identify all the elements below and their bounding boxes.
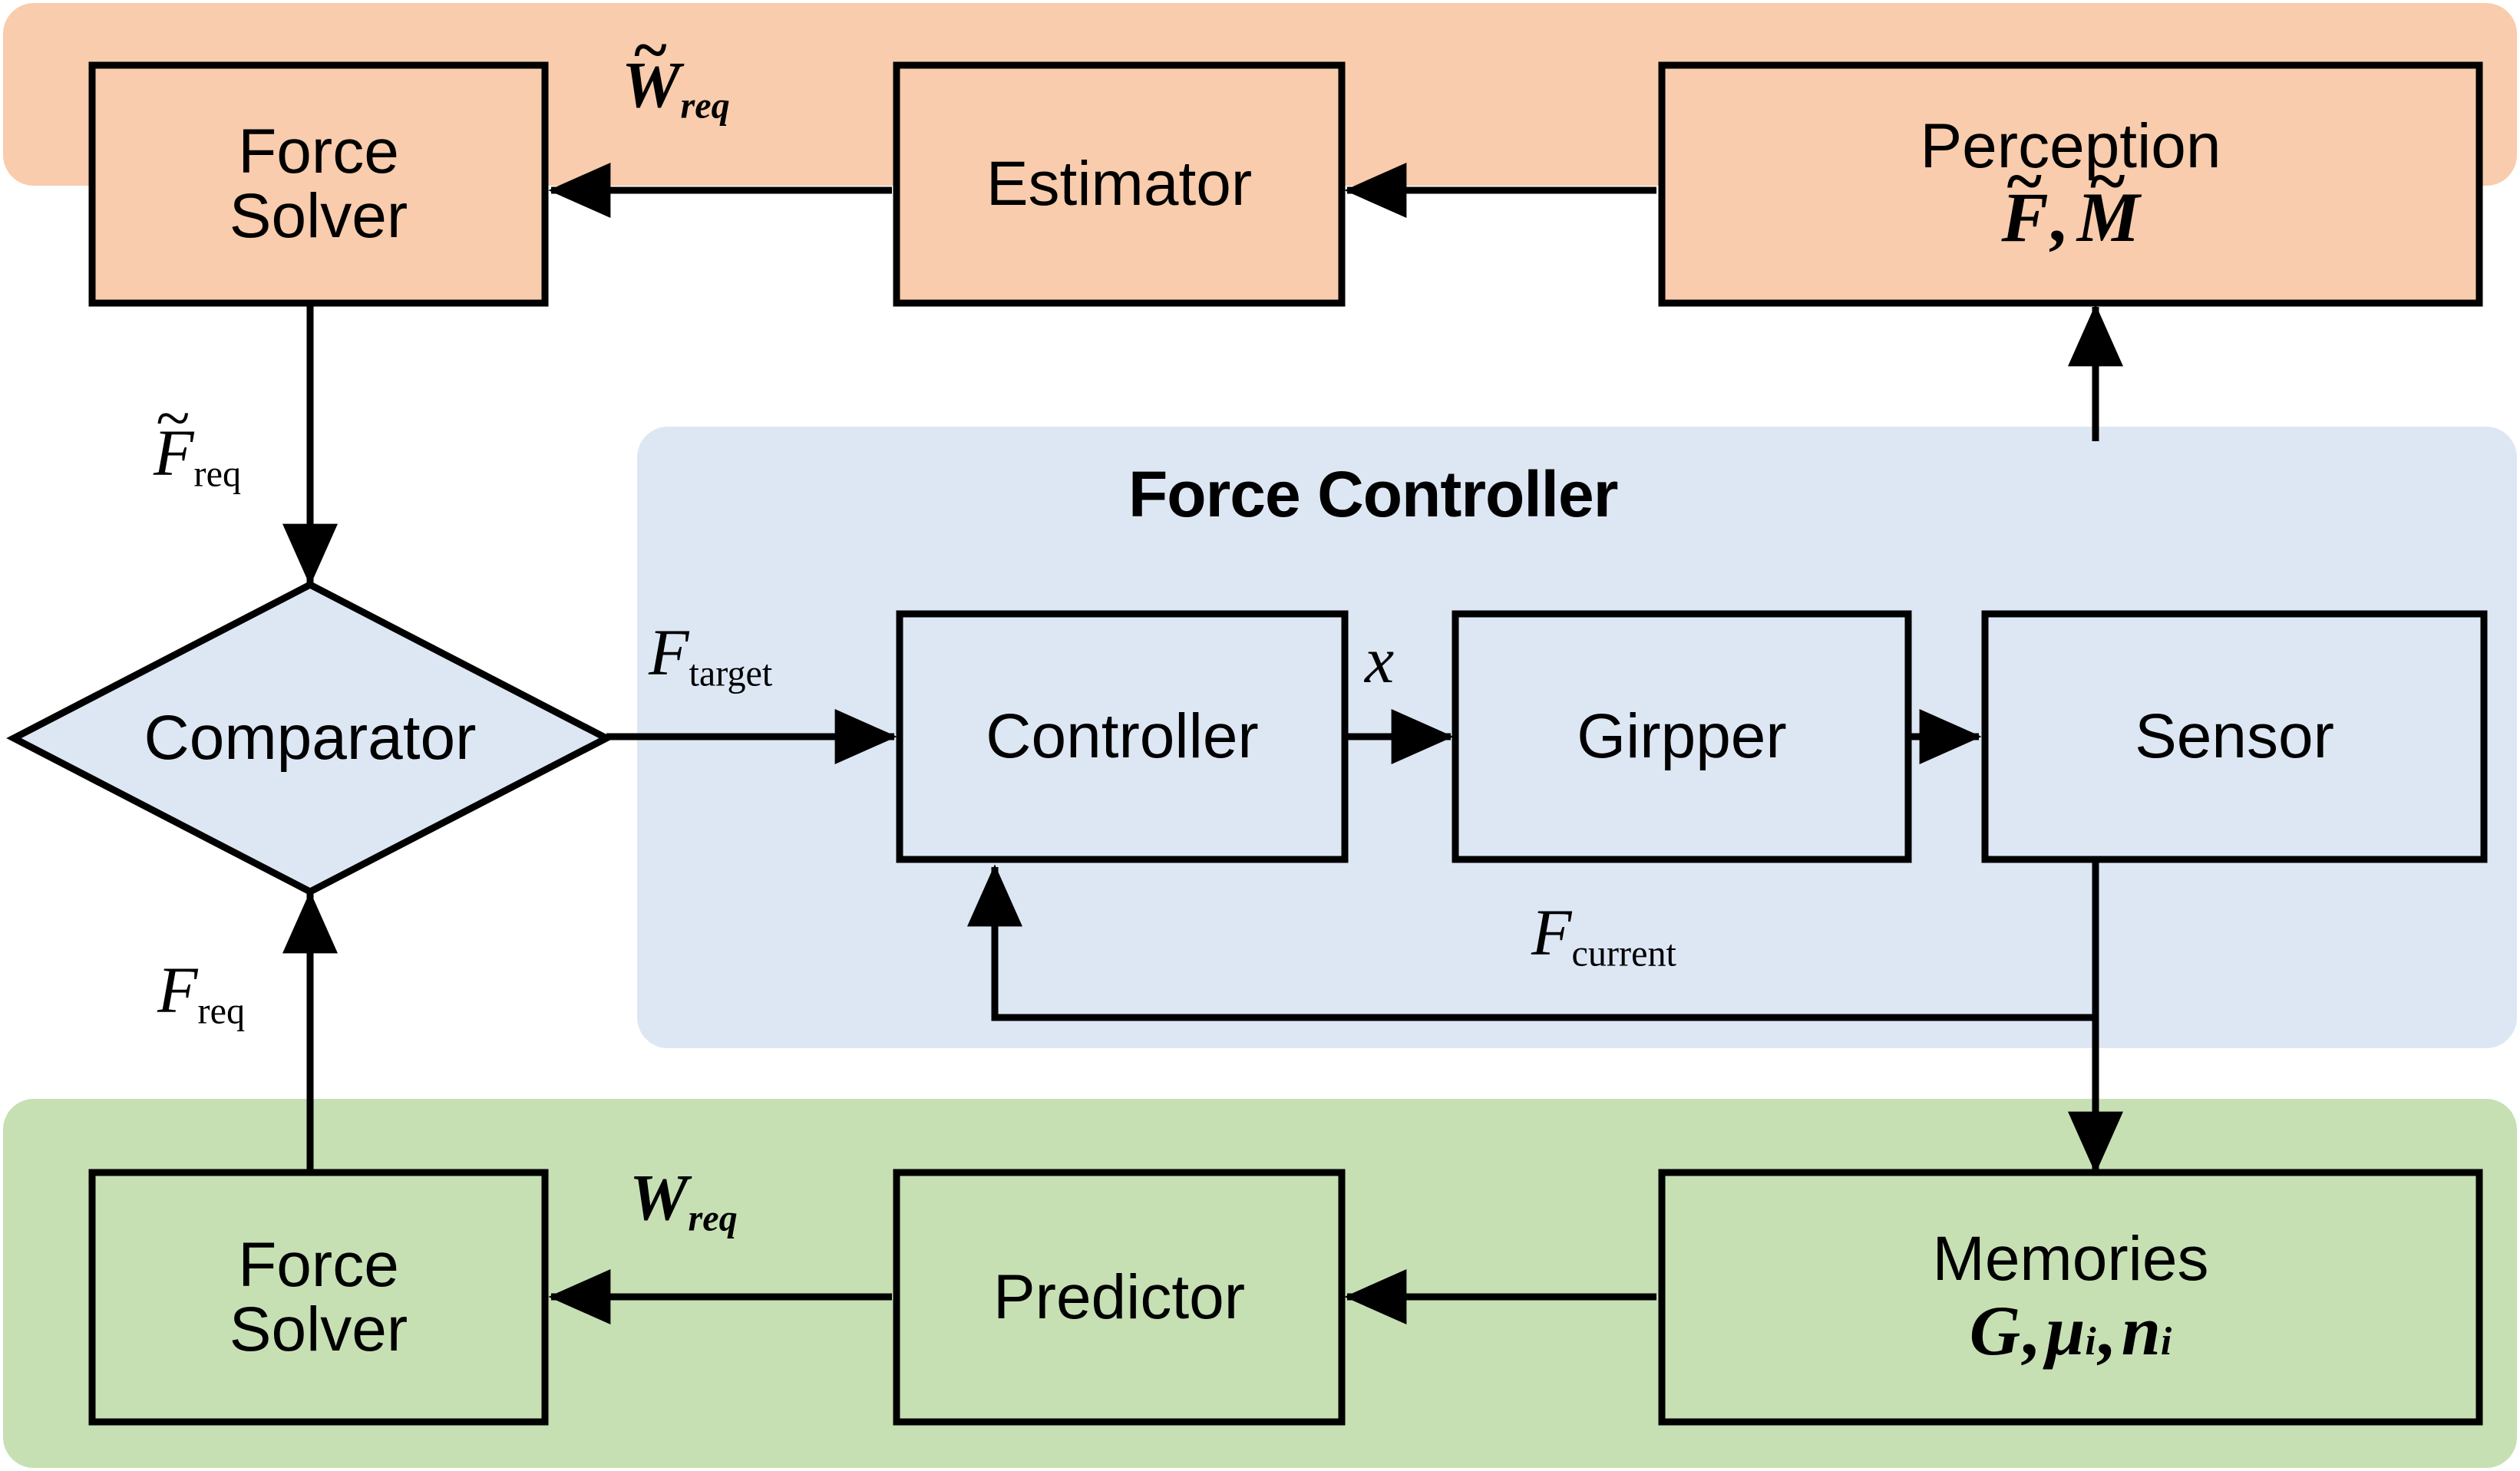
w-req-base: W [629, 1160, 688, 1234]
f-req-base: F [157, 953, 198, 1027]
estimator-label: Estimator [897, 65, 1342, 303]
w-req-tilde-base-wrap: ~W [622, 46, 680, 123]
perception-comma: , [2049, 182, 2066, 254]
predictor-label: Predictor [897, 1173, 1342, 1422]
force-solver-top-label: Force Solver [92, 65, 545, 303]
edge-label-f-current: Fcurrent [1531, 894, 1676, 975]
memories-n: n [2122, 1295, 2161, 1367]
tilde-icon: ~ [2090, 147, 2125, 215]
perception-M-tilde: ~M [2077, 182, 2140, 254]
w-req-subscript: req [688, 1198, 737, 1238]
edge-label-w-req-tilde: ~Wreq [622, 46, 730, 127]
edge-label-f-req: Freq [157, 952, 245, 1032]
perception-F-tilde: ~F [2001, 182, 2048, 254]
memories-n-subscript: i [2161, 1322, 2172, 1363]
perception-text: Perception [1920, 114, 2221, 179]
gripper-text: Girpper [1577, 704, 1786, 769]
gripper-label: Girpper [1455, 614, 1908, 859]
force-solver-bottom-line2: Solver [230, 1298, 408, 1362]
memories-label: Memories G,μi,ni [1662, 1173, 2479, 1422]
edge-label-f-target: Ftarget [649, 614, 772, 694]
memories-text: Memories [1933, 1227, 2209, 1291]
tilde-icon: ~ [634, 14, 666, 86]
tilde-icon: ~ [2006, 147, 2041, 215]
f-target-subscript: target [689, 653, 773, 694]
memories-comma-2: , [2096, 1295, 2114, 1367]
w-req-tilde-subscript: req [680, 85, 729, 126]
f-current-base: F [1531, 895, 1572, 969]
memories-comma-1: , [2020, 1295, 2038, 1367]
tilde-icon: ~ [156, 382, 190, 454]
edge-label-w-req: Wreq [629, 1159, 738, 1239]
f-req-tilde-subscript: req [194, 454, 242, 494]
memories-mu: μ [2046, 1295, 2085, 1367]
edge-label-x: x [1365, 622, 1394, 698]
perception-label: Perception ~F,~M [1662, 65, 2479, 303]
diagram-canvas: Force Controller Force Solver Estimator … [0, 0, 2520, 1471]
f-req-tilde-base-wrap: ~F [154, 414, 194, 491]
memories-G: G [1970, 1295, 2020, 1367]
comparator-label: Comparator [14, 661, 606, 815]
f-target-base: F [649, 615, 689, 689]
memories-vars: G,μi,ni [1970, 1295, 2172, 1367]
estimator-text: Estimator [986, 152, 1252, 216]
force-solver-top-line2: Solver [230, 184, 408, 249]
memories-mu-subscript: i [2085, 1322, 2096, 1363]
force-solver-bottom-label: Force Solver [92, 1173, 545, 1422]
f-current-subscript: current [1572, 933, 1676, 974]
sensor-text: Sensor [2135, 704, 2334, 769]
x-base: x [1365, 623, 1394, 697]
force-controller-title: Force Controller [1128, 457, 1617, 532]
sensor-label: Sensor [1985, 614, 2484, 859]
controller-text: Controller [986, 704, 1258, 769]
force-solver-bottom-line1: Force [238, 1233, 399, 1298]
controller-label: Controller [900, 614, 1345, 859]
edge-label-f-req-tilde: ~Freq [154, 414, 241, 495]
force-solver-top-line1: Force [238, 120, 399, 184]
predictor-text: Predictor [993, 1265, 1245, 1330]
f-req-subscript: req [198, 991, 246, 1031]
comparator-text: Comparator [144, 706, 477, 770]
perception-vars: ~F,~M [2001, 182, 2139, 254]
